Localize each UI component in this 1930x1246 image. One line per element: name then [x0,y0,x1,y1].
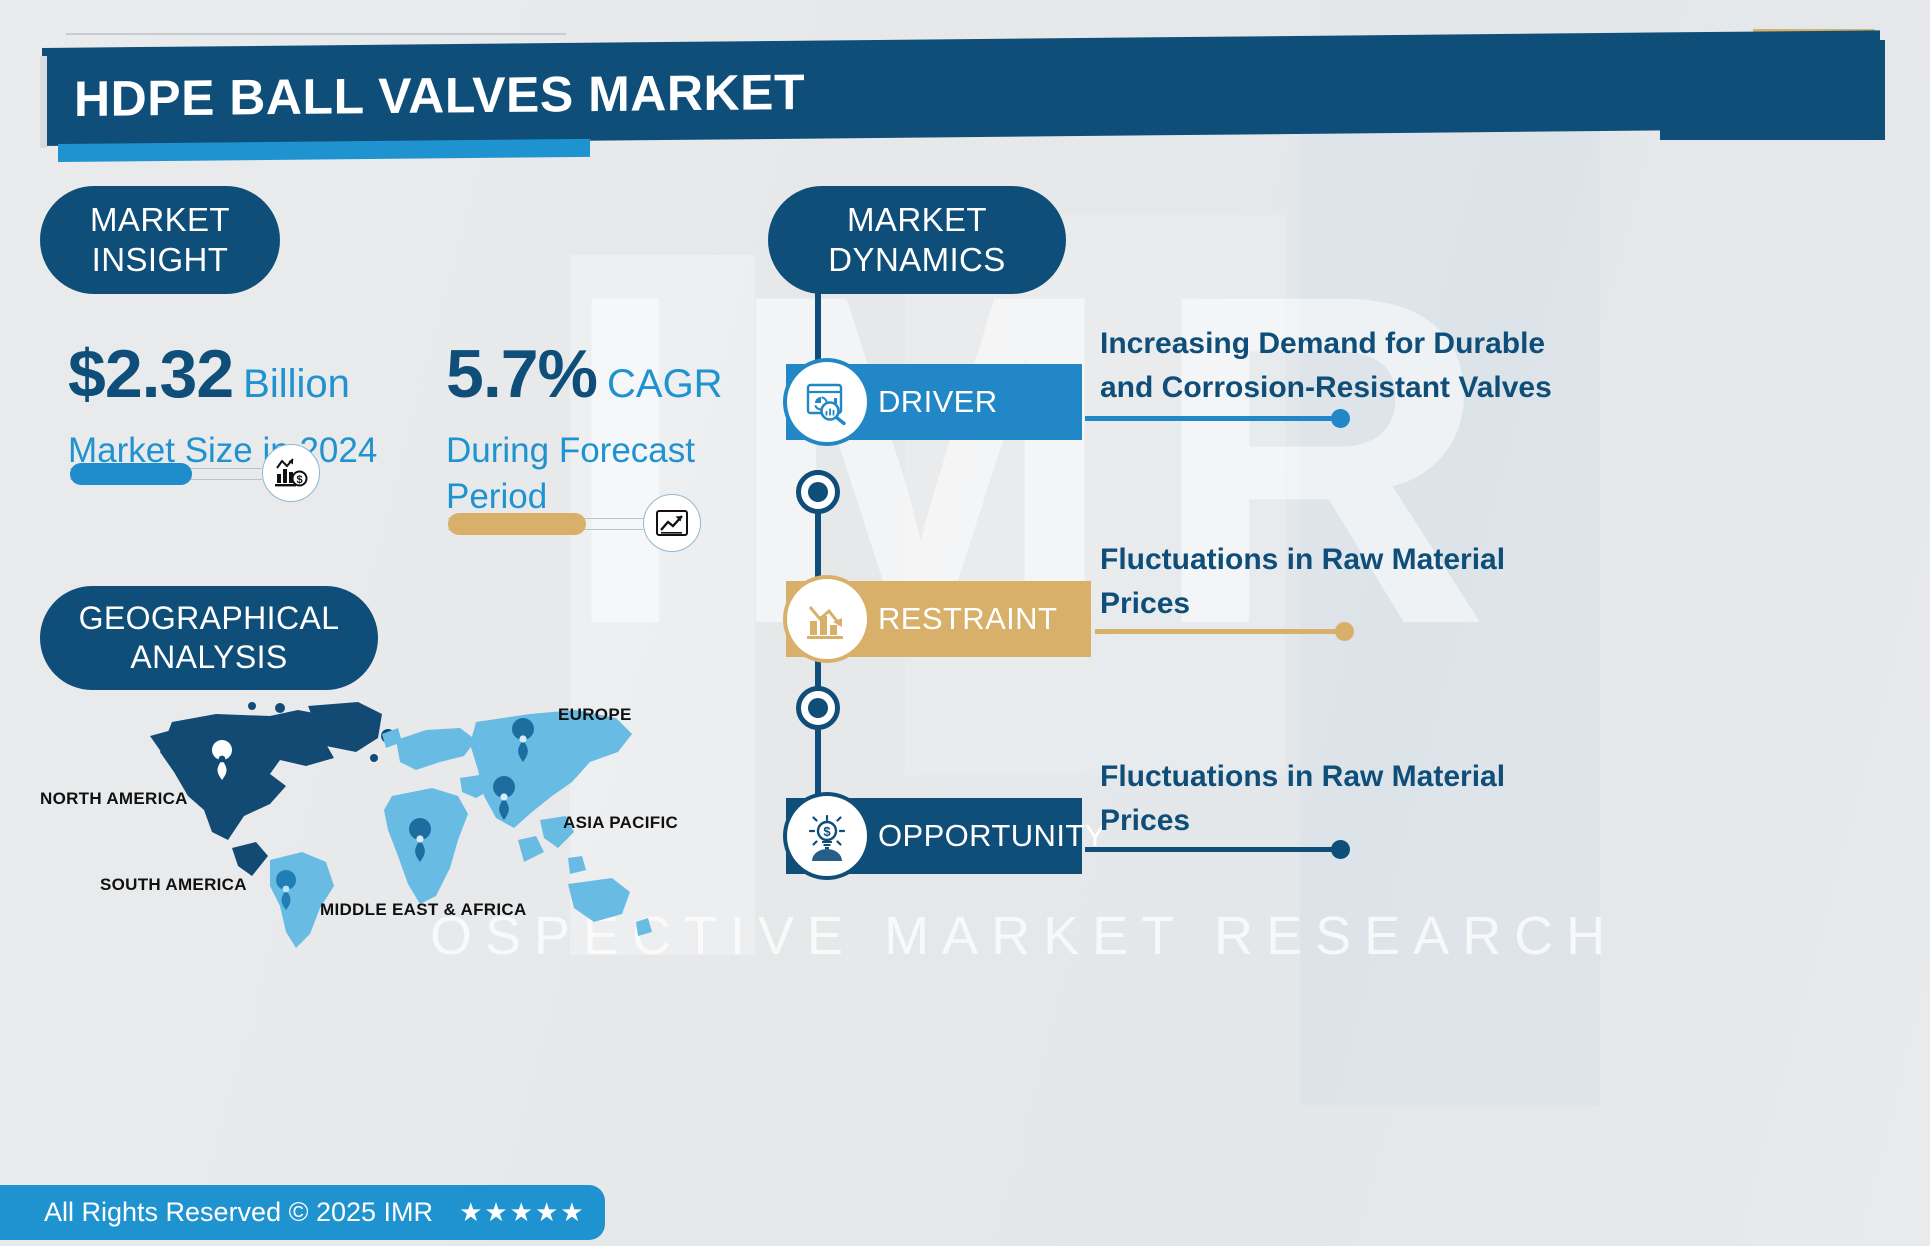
map-label-europe: EUROPE [558,705,632,725]
kpi-market-size-unit: Billion [243,362,350,406]
map-label-south-america: SOUTH AMERICA [100,875,247,895]
dynamics-row-driver[interactable]: DRIVER [786,364,1082,440]
progress-fill [70,463,192,485]
badge-market-insight: MARKET INSIGHT [40,186,280,294]
timeline-node [796,470,840,514]
region-australia-shape [568,878,652,936]
footer-bar: All Rights Reserved © 2025 IMR ★★★★★ [0,1185,605,1240]
progress-fill [448,513,586,535]
region-europe-shape [382,728,476,770]
dynamics-description-opportunity: Fluctuations in Raw Material Prices [1100,755,1570,842]
kpi-cagr-unit: CAGR [607,362,723,406]
map-label-north-america: NORTH AMERICA [40,789,188,809]
analytics-search-icon [783,358,871,446]
declining-chart-icon [783,575,871,663]
badge-market-dynamics: MARKET DYNAMICS [768,186,1066,294]
dynamics-description-driver: Increasing Demand for Durable and Corros… [1100,322,1570,409]
map-label-middle-east-africa: MIDDLE EAST & AFRICA [320,900,527,920]
footer-copyright: All Rights Reserved © 2025 IMR [44,1197,433,1228]
kpi-cagr: 5.7%CAGR During Forecast Period [446,340,766,520]
svg-text:$: $ [823,824,831,839]
header-hairline [66,33,566,35]
kpi-market-size-value: $2.32 [68,336,233,412]
dynamics-row-restraint[interactable]: RESTRAINT [786,581,1091,657]
progress-cagr [448,498,700,550]
map-label-asia-pacific: ASIA PACIFIC [563,813,678,833]
footer-star-rating: ★★★★★ [459,1197,586,1228]
dynamics-connector-driver [1085,416,1341,421]
svg-text:$: $ [296,474,302,486]
bar-chart-dollar-icon: $ [262,444,320,502]
growth-chart-icon [643,494,701,552]
progress-market-size: $ [70,448,320,500]
dynamics-connector-restraint [1095,629,1345,634]
badge-geographical-analysis: GEOGRAPHICAL ANALYSIS [40,586,378,690]
dynamics-connector-opportunity [1085,847,1341,852]
dynamics-row-opportunity[interactable]: OPPORTUNITY $ [786,798,1082,874]
header-left-tick [40,56,47,148]
timeline-node [796,686,840,730]
kpi-cagr-value: 5.7% [446,336,597,412]
page-title: HDPE BALL VALVES MARKET [74,63,805,128]
region-middle-east-africa-shape [384,774,494,904]
dynamics-description-restraint: Fluctuations in Raw Material Prices [1100,538,1570,625]
lightbulb-dollar-icon: $ [783,792,871,880]
